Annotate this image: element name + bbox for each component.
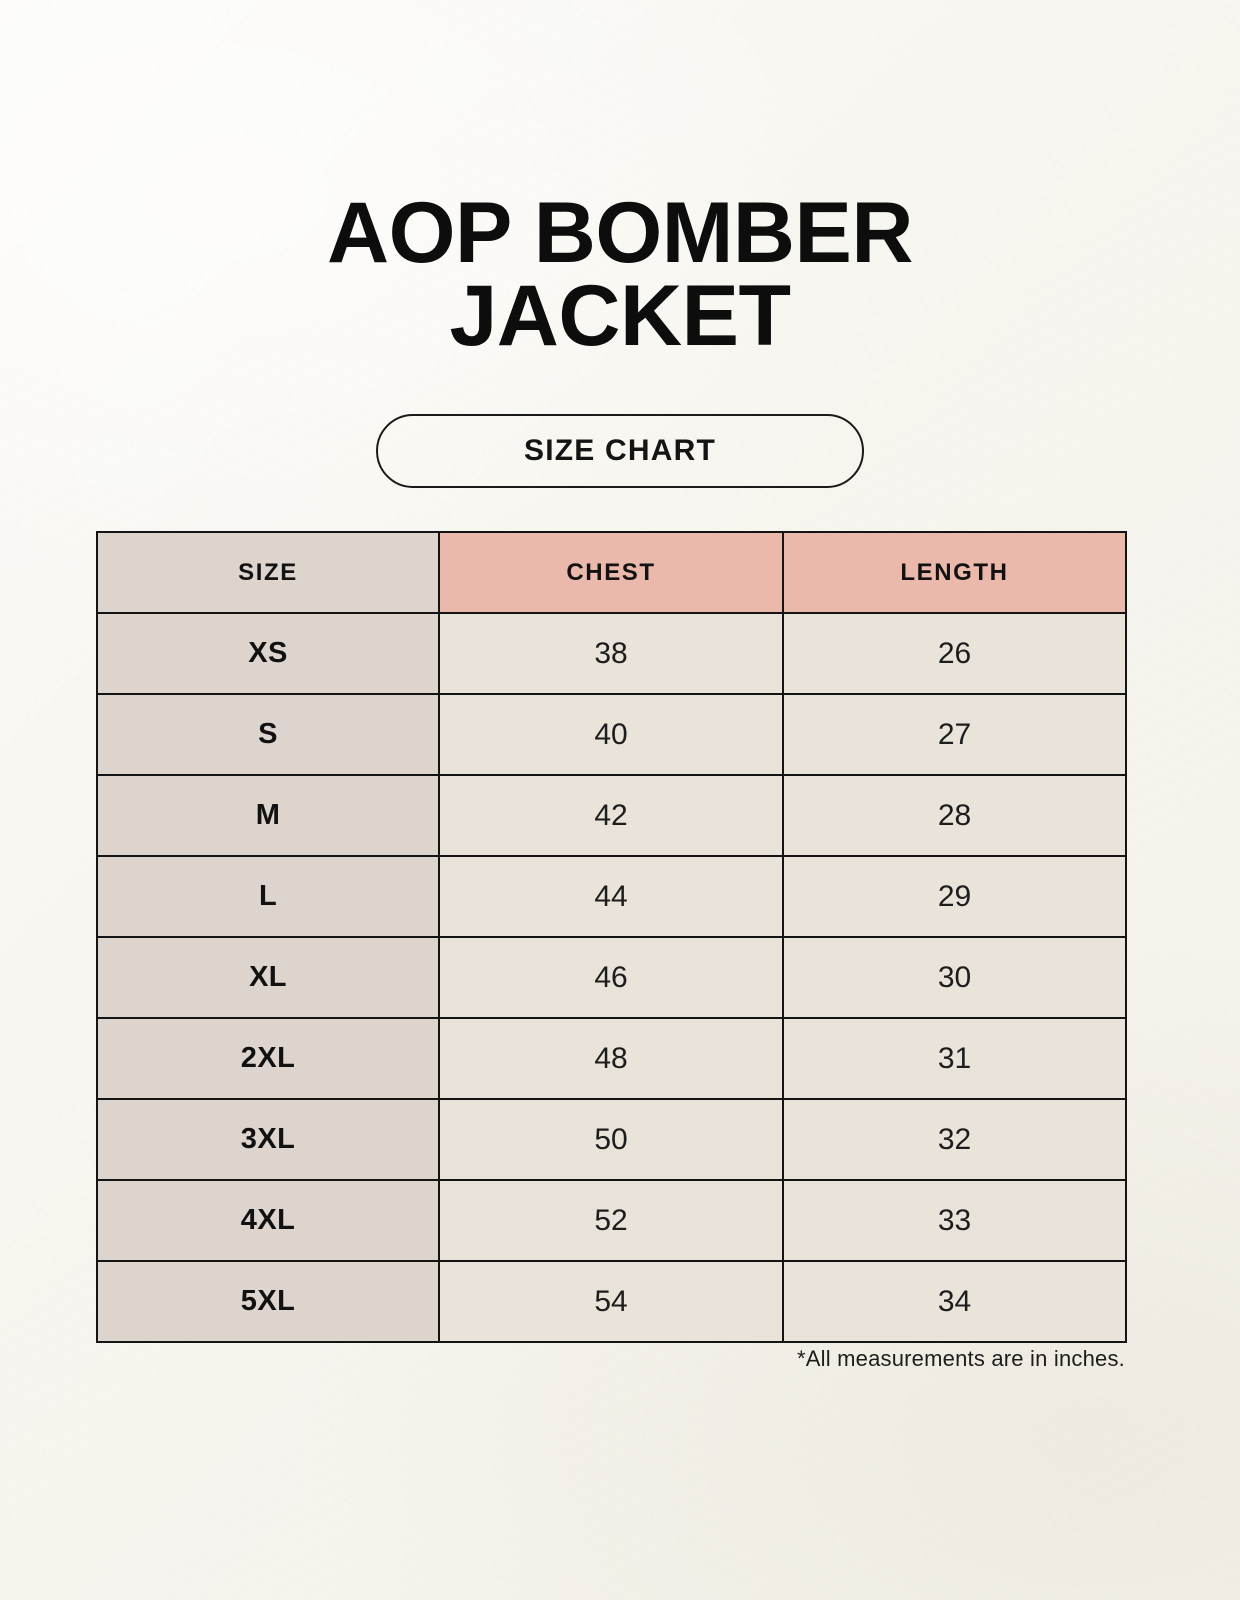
cell-chest: 46 [439,937,783,1018]
size-table-wrap: SIZE CHEST LENGTH XS 38 26 S [96,531,1125,1343]
table-row: 3XL 50 32 [97,1099,1126,1180]
length-value: 29 [938,880,971,913]
chest-value: 54 [594,1285,627,1318]
size-label: 3XL [241,1123,295,1155]
title-block: AOP BOMBER JACKET [0,192,1240,357]
cell-chest: 54 [439,1261,783,1342]
size-label: XL [249,961,287,993]
size-chart-badge-wrap: SIZE CHART [0,414,1240,488]
table-row: S 40 27 [97,694,1126,775]
cell-length: 28 [783,775,1126,856]
cell-chest: 42 [439,775,783,856]
cell-size: L [97,856,439,937]
table-row: XL 46 30 [97,937,1126,1018]
cell-chest: 38 [439,613,783,694]
length-value: 34 [938,1285,971,1318]
page-title: AOP BOMBER JACKET [0,192,1240,357]
size-chart-page: AOP BOMBER JACKET SIZE CHART SIZE CHEST [0,0,1240,1600]
cell-length: 29 [783,856,1126,937]
table-row: XS 38 26 [97,613,1126,694]
cell-length: 34 [783,1261,1126,1342]
cell-size: XS [97,613,439,694]
size-table: SIZE CHEST LENGTH XS 38 26 S [96,531,1127,1343]
table-header-row: SIZE CHEST LENGTH [97,532,1126,613]
chest-value: 46 [594,961,627,994]
cell-chest: 52 [439,1180,783,1261]
column-header-size: SIZE [97,532,439,613]
cell-length: 32 [783,1099,1126,1180]
cell-chest: 40 [439,694,783,775]
size-label: S [258,718,278,750]
length-value: 28 [938,799,971,832]
size-label: XS [248,637,288,669]
size-label: L [259,880,277,912]
chest-value: 48 [594,1042,627,1075]
length-value: 27 [938,718,971,751]
length-value: 33 [938,1204,971,1237]
chest-value: 42 [594,799,627,832]
table-row: M 42 28 [97,775,1126,856]
size-table-head: SIZE CHEST LENGTH [97,532,1126,613]
chest-value: 44 [594,880,627,913]
size-label: 4XL [241,1204,295,1236]
chest-value: 50 [594,1123,627,1156]
table-row: 4XL 52 33 [97,1180,1126,1261]
cell-length: 33 [783,1180,1126,1261]
cell-size: M [97,775,439,856]
column-header-chest-label: CHEST [566,559,655,586]
size-table-body: XS 38 26 S 40 27 M 42 28 L 44 29 [97,613,1126,1342]
length-value: 32 [938,1123,971,1156]
cell-length: 27 [783,694,1126,775]
length-value: 30 [938,961,971,994]
cell-length: 30 [783,937,1126,1018]
column-header-chest: CHEST [439,532,783,613]
column-header-length: LENGTH [783,532,1126,613]
cell-length: 26 [783,613,1126,694]
column-header-size-label: SIZE [238,559,298,586]
cell-size: 5XL [97,1261,439,1342]
cell-chest: 44 [439,856,783,937]
size-chart-badge: SIZE CHART [376,414,864,488]
column-header-length-label: LENGTH [900,559,1008,586]
cell-chest: 48 [439,1018,783,1099]
table-row: 2XL 48 31 [97,1018,1126,1099]
chest-value: 38 [594,637,627,670]
cell-size: S [97,694,439,775]
chest-value: 52 [594,1204,627,1237]
length-value: 26 [938,637,971,670]
table-row: 5XL 54 34 [97,1261,1126,1342]
measurements-footnote: *All measurements are in inches. [96,1346,1125,1372]
size-chart-badge-label: SIZE CHART [524,434,716,468]
cell-size: 4XL [97,1180,439,1261]
cell-size: 3XL [97,1099,439,1180]
size-label: M [256,799,281,831]
cell-chest: 50 [439,1099,783,1180]
size-label: 2XL [241,1042,295,1074]
cell-size: XL [97,937,439,1018]
cell-length: 31 [783,1018,1126,1099]
length-value: 31 [938,1042,971,1075]
size-label: 5XL [241,1285,295,1317]
chest-value: 40 [594,718,627,751]
cell-size: 2XL [97,1018,439,1099]
table-row: L 44 29 [97,856,1126,937]
